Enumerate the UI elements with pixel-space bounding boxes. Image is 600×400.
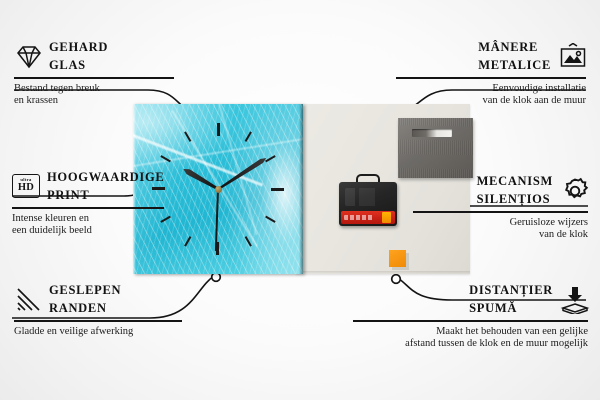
spacer-arrow-icon [560, 286, 588, 312]
callout-title: HOOGWAARDIGE PRINT [47, 168, 164, 204]
beveled-edge-icon [14, 286, 42, 312]
callout-title: GEHARD GLAS [49, 38, 108, 74]
mechanism-embossing [345, 188, 391, 206]
callout-header: MÂNERE METALICE [396, 38, 586, 74]
callout-divider [353, 320, 588, 322]
clock-tick [218, 188, 284, 190]
callout-desc-line1: Intense kleuren en [12, 213, 212, 226]
callout-desc-line2: van de klok [413, 229, 588, 242]
callout-desc-line2: afstand tussen de klok en de muur mogeli… [353, 338, 588, 351]
callout-geslepen-randen: GESLEPEN RANDEN Gladde en veilige afwerk… [14, 281, 204, 338]
callout-gehard-glas: GEHARD GLAS Bestand tegen breuk en krass… [14, 38, 194, 108]
callout-divider [14, 77, 174, 79]
callout-desc-line1: Gladde en veilige afwerking [14, 326, 204, 339]
callout-divider [12, 207, 164, 209]
mechanism-battery-label [341, 211, 395, 224]
glass-edge-right [299, 104, 303, 274]
callout-desc-line1: Eenvoudige installatie [396, 83, 586, 96]
wall-frame-hook-icon [558, 43, 586, 69]
callout-hoogwaardige-print: ultra HD HOOGWAARDIGE PRINT Intense kleu… [12, 168, 212, 238]
callout-title: DISTANȚIER SPUMĂ [469, 281, 553, 317]
ultra-hd-icon: ultra HD [12, 174, 40, 198]
callout-mecanism-silentios: MECANISM SILENȚIOS Geruisloze wijzers va… [413, 172, 588, 242]
callout-desc-line1: Maakt het behouden van een gelijke [353, 326, 588, 339]
callout-title: GESLEPEN RANDEN [49, 281, 121, 317]
callout-title: MECANISM SILENȚIOS [477, 172, 553, 208]
callout-distantier-spuma: DISTANȚIER SPUMĂ Maakt het behouden van … [353, 281, 588, 351]
callout-divider [413, 211, 588, 213]
callout-divider [396, 77, 586, 79]
ultra-hd-icon-main-text: HD [18, 183, 34, 194]
clock-center-hub [215, 186, 222, 193]
callout-manere-metalice: MÂNERE METALICE Eenvoudige installatie v… [396, 38, 586, 108]
hanger-slot [412, 129, 452, 137]
callout-desc-line2: en krassen [14, 95, 194, 108]
infographic-canvas: GEHARD GLAS Bestand tegen breuk en krass… [0, 0, 600, 400]
callout-desc-line2: een duidelijk beeld [12, 225, 212, 238]
callout-header: DISTANȚIER SPUMĂ [353, 281, 588, 317]
callout-header: GESLEPEN RANDEN [14, 281, 204, 317]
callout-desc-line1: Geruisloze wijzers [413, 217, 588, 230]
clock-tick [217, 123, 219, 189]
clock-mechanism [339, 174, 397, 226]
gear-icon [560, 177, 588, 203]
foam-spacer [389, 250, 406, 267]
callout-divider [14, 320, 182, 322]
callout-desc-line2: van de klok aan de muur [396, 95, 586, 108]
metal-hanger-plate [398, 118, 473, 178]
mechanism-body [339, 182, 397, 226]
diamond-icon [14, 43, 42, 69]
callout-header: GEHARD GLAS [14, 38, 194, 74]
callout-header: MECANISM SILENȚIOS [413, 172, 588, 208]
callout-header: ultra HD HOOGWAARDIGE PRINT [12, 168, 212, 204]
callout-desc-line1: Bestand tegen breuk [14, 83, 194, 96]
callout-title: MÂNERE METALICE [478, 38, 551, 74]
